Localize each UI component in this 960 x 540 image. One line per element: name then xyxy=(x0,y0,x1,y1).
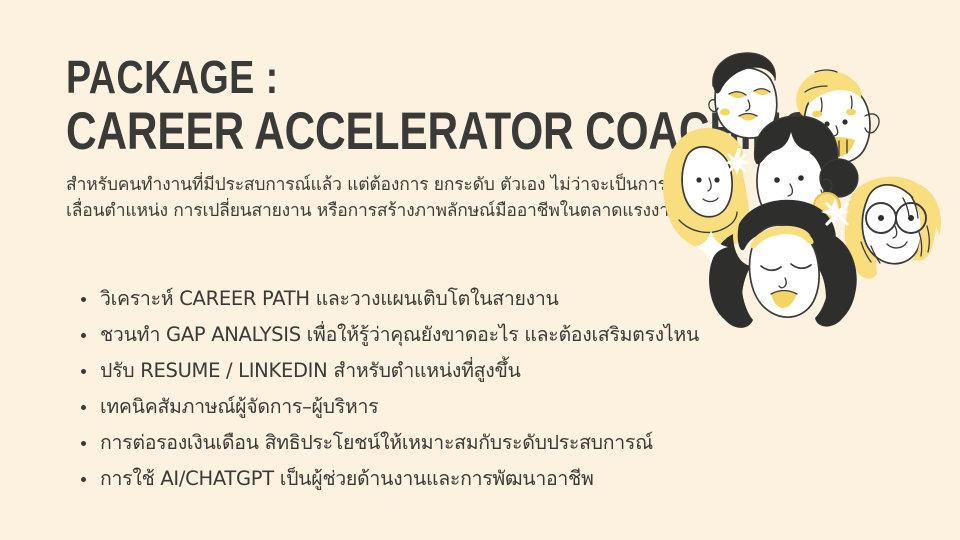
headline-block: PACKAGE : CAREER ACCELERATOR COACHING xyxy=(66,52,686,160)
bullet-dot-icon xyxy=(81,477,86,482)
list-item-label: ปรับ RESUME / LINKEDIN สำหรับตำแหน่งที่ส… xyxy=(100,359,521,382)
subtitle-line-2: เลื่อนตำแหน่ง การเปลี่ยนสายงาน หรือการสร… xyxy=(66,198,706,224)
list-item-label: เทคนิคสัมภาษณ์ผู้จัดการ–ผู้บริหาร xyxy=(100,395,378,418)
list-item: เทคนิคสัมภาษณ์ผู้จัดการ–ผู้บริหาร xyxy=(78,389,778,425)
subtitle-line-1: สำหรับคนทำงานที่มีประสบการณ์แล้ว แต่ต้อง… xyxy=(66,172,706,198)
page-title-line-1: PACKAGE : xyxy=(66,52,574,102)
page-title-line-2: CAREER ACCELERATOR COACHING xyxy=(66,104,562,160)
face-short-dark-hair xyxy=(709,53,777,138)
subtitle: สำหรับคนทำงานที่มีประสบการณ์แล้ว แต่ต้อง… xyxy=(66,172,706,224)
bullet-dot-icon xyxy=(81,333,86,338)
list-item-label: การต่อรองเงินเดือน สิทธิประโยชน์ให้เหมาะ… xyxy=(100,431,653,454)
faces-illustration: .ink { fill:none; stroke:#3a3a38; stroke… xyxy=(655,28,960,333)
list-item-label: วิเคราะห์ CAREER PATH และวางแผนเติบโตในส… xyxy=(100,287,559,310)
list-item: ปรับ RESUME / LINKEDIN สำหรับตำแหน่งที่ส… xyxy=(78,353,778,389)
list-item: การต่อรองเงินเดือน สิทธิประโยชน์ให้เหมาะ… xyxy=(78,425,778,461)
bullet-dot-icon xyxy=(81,369,86,374)
bullet-dot-icon xyxy=(81,297,86,302)
list-item: การใช้ AI/CHATGPT เป็นผู้ช่วยด้านงานและก… xyxy=(78,461,778,497)
face-blond-glasses xyxy=(845,177,941,279)
bullet-dot-icon xyxy=(81,441,86,446)
list-item-label: การใช้ AI/CHATGPT เป็นผู้ช่วยด้านงานและก… xyxy=(100,467,594,490)
promo-poster: PACKAGE : CAREER ACCELERATOR COACHING สำ… xyxy=(0,0,960,540)
bullet-dot-icon xyxy=(81,405,86,410)
list-item-label: ชวนทำ GAP ANALYSIS เพื่อให้รู้ว่าคุณยังข… xyxy=(100,323,699,346)
face-yellow-hijab xyxy=(663,128,749,251)
